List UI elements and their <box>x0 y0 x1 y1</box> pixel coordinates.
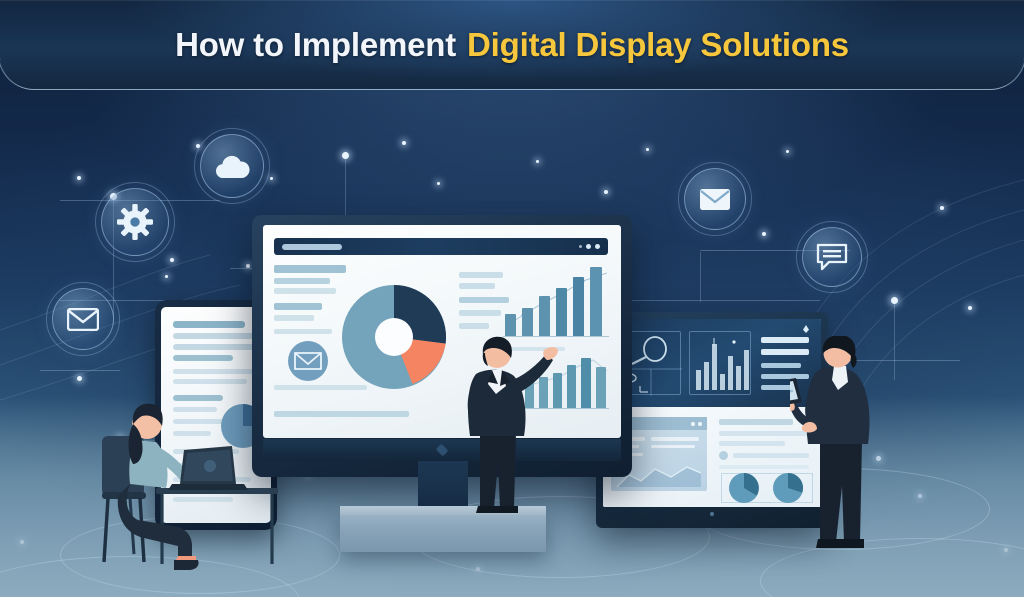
pie-chart-left <box>727 471 761 505</box>
banner-header: How to Implement Digital Display Solutio… <box>0 0 1024 90</box>
dark-dashboard-panel <box>603 319 821 407</box>
gear-icon[interactable] <box>101 188 169 256</box>
bubble-halo <box>194 128 270 204</box>
bar-chart-top <box>503 267 609 339</box>
chat-icon[interactable] <box>802 227 862 287</box>
monitor-plinth <box>340 512 546 552</box>
title-plain: How to Implement <box>175 26 456 64</box>
seated-woman-with-laptop <box>100 384 280 580</box>
title-accent: Digital Display Solutions <box>467 26 849 64</box>
page-title: How to Implement Digital Display Solutio… <box>0 0 1024 90</box>
presenter-pointing <box>452 336 560 516</box>
desk <box>156 488 278 564</box>
light-dashboard-panel <box>603 407 821 507</box>
dashboard-monitor-screen <box>263 225 621 438</box>
monitor-logo <box>436 444 449 457</box>
bullet-dot <box>719 451 728 460</box>
envelope-icon[interactable] <box>684 168 746 230</box>
url-pill <box>282 244 342 250</box>
donut-chart <box>339 282 449 392</box>
standing-man-with-tablet <box>790 336 898 562</box>
bubble-halo <box>95 182 175 262</box>
bubble-halo <box>678 162 752 236</box>
wall-display-chin <box>603 507 821 522</box>
envelope-icon[interactable] <box>287 340 329 382</box>
bubble-halo <box>46 282 120 356</box>
banner-illustration: How to Implement Digital Display Solutio… <box>0 0 1024 597</box>
pin-icon <box>803 325 809 333</box>
dark-bar-chart <box>689 331 751 395</box>
wall-display-screen <box>603 319 821 507</box>
cloud-icon[interactable] <box>200 134 264 198</box>
browser-title-bar[interactable] <box>274 238 608 255</box>
window-dots <box>579 244 600 249</box>
dashboard-monitor[interactable] <box>252 215 632 477</box>
bubble-halo <box>796 221 868 293</box>
bar-chart-glyph <box>690 332 752 396</box>
envelope-icon[interactable] <box>52 288 114 350</box>
monitor-chin <box>263 439 621 461</box>
